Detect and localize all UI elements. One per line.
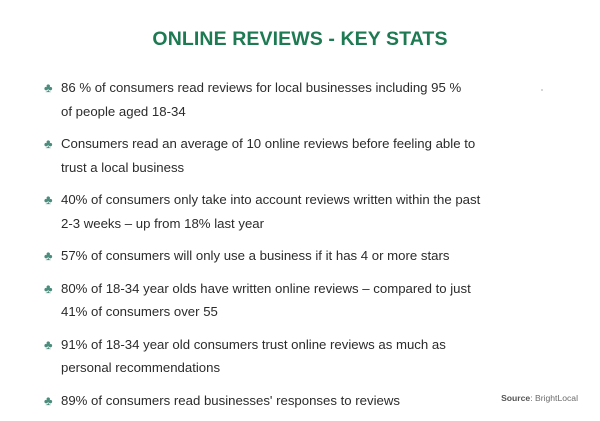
- scan-artifact-dot: [541, 89, 543, 91]
- list-item: ♣86 % of consumers read reviews for loca…: [44, 76, 564, 123]
- list-item-line: 80% of 18-34 year olds have written onli…: [61, 277, 564, 301]
- club-bullet-icon: ♣: [44, 188, 61, 212]
- club-bullet-icon: ♣: [44, 244, 61, 268]
- list-item-text: 89% of consumers read businesses' respon…: [61, 389, 564, 413]
- source-label: Source: [501, 393, 530, 403]
- page-title: ONLINE REVIEWS - KEY STATS: [0, 28, 600, 51]
- list-item-line: 41% of consumers over 55: [61, 300, 564, 324]
- list-item-text: 91% of 18-34 year old consumers trust on…: [61, 333, 564, 380]
- list-item-line: 2-3 weeks – up from 18% last year: [61, 212, 564, 236]
- club-bullet-icon: ♣: [44, 389, 61, 413]
- list-item: ♣80% of 18-34 year olds have written onl…: [44, 277, 564, 324]
- list-item-line: of people aged 18-34: [61, 100, 564, 124]
- source-value: BrightLocal: [535, 393, 578, 403]
- list-item: ♣91% of 18-34 year old consumers trust o…: [44, 333, 564, 380]
- list-item-text: 57% of consumers will only use a busines…: [61, 244, 564, 268]
- club-bullet-icon: ♣: [44, 277, 61, 301]
- list-item: ♣Consumers read an average of 10 online …: [44, 132, 564, 179]
- list-item-line: 91% of 18-34 year old consumers trust on…: [61, 333, 564, 357]
- list-item-line: trust a local business: [61, 156, 564, 180]
- list-item-line: 86 % of consumers read reviews for local…: [61, 76, 564, 100]
- list-item-text: 86 % of consumers read reviews for local…: [61, 76, 564, 123]
- list-item-text: 40% of consumers only take into account …: [61, 188, 564, 235]
- list-item: ♣57% of consumers will only use a busine…: [44, 244, 564, 268]
- club-bullet-icon: ♣: [44, 333, 61, 357]
- list-item-text: Consumers read an average of 10 online r…: [61, 132, 564, 179]
- list-item-line: 40% of consumers only take into account …: [61, 188, 564, 212]
- list-item: ♣40% of consumers only take into account…: [44, 188, 564, 235]
- list-item-text: 80% of 18-34 year olds have written onli…: [61, 277, 564, 324]
- slide-canvas: ONLINE REVIEWS - KEY STATS ♣86 % of cons…: [0, 0, 600, 421]
- list-item-line: 57% of consumers will only use a busines…: [61, 244, 564, 268]
- list-item-line: 89% of consumers read businesses' respon…: [61, 389, 564, 413]
- list-item: ♣89% of consumers read businesses' respo…: [44, 389, 564, 413]
- list-item-line: Consumers read an average of 10 online r…: [61, 132, 564, 156]
- club-bullet-icon: ♣: [44, 76, 61, 100]
- list-item-line: personal recommendations: [61, 356, 564, 380]
- club-bullet-icon: ♣: [44, 132, 61, 156]
- stats-list: ♣86 % of consumers read reviews for loca…: [44, 76, 564, 421]
- source-attribution: Source: BrightLocal: [501, 393, 578, 403]
